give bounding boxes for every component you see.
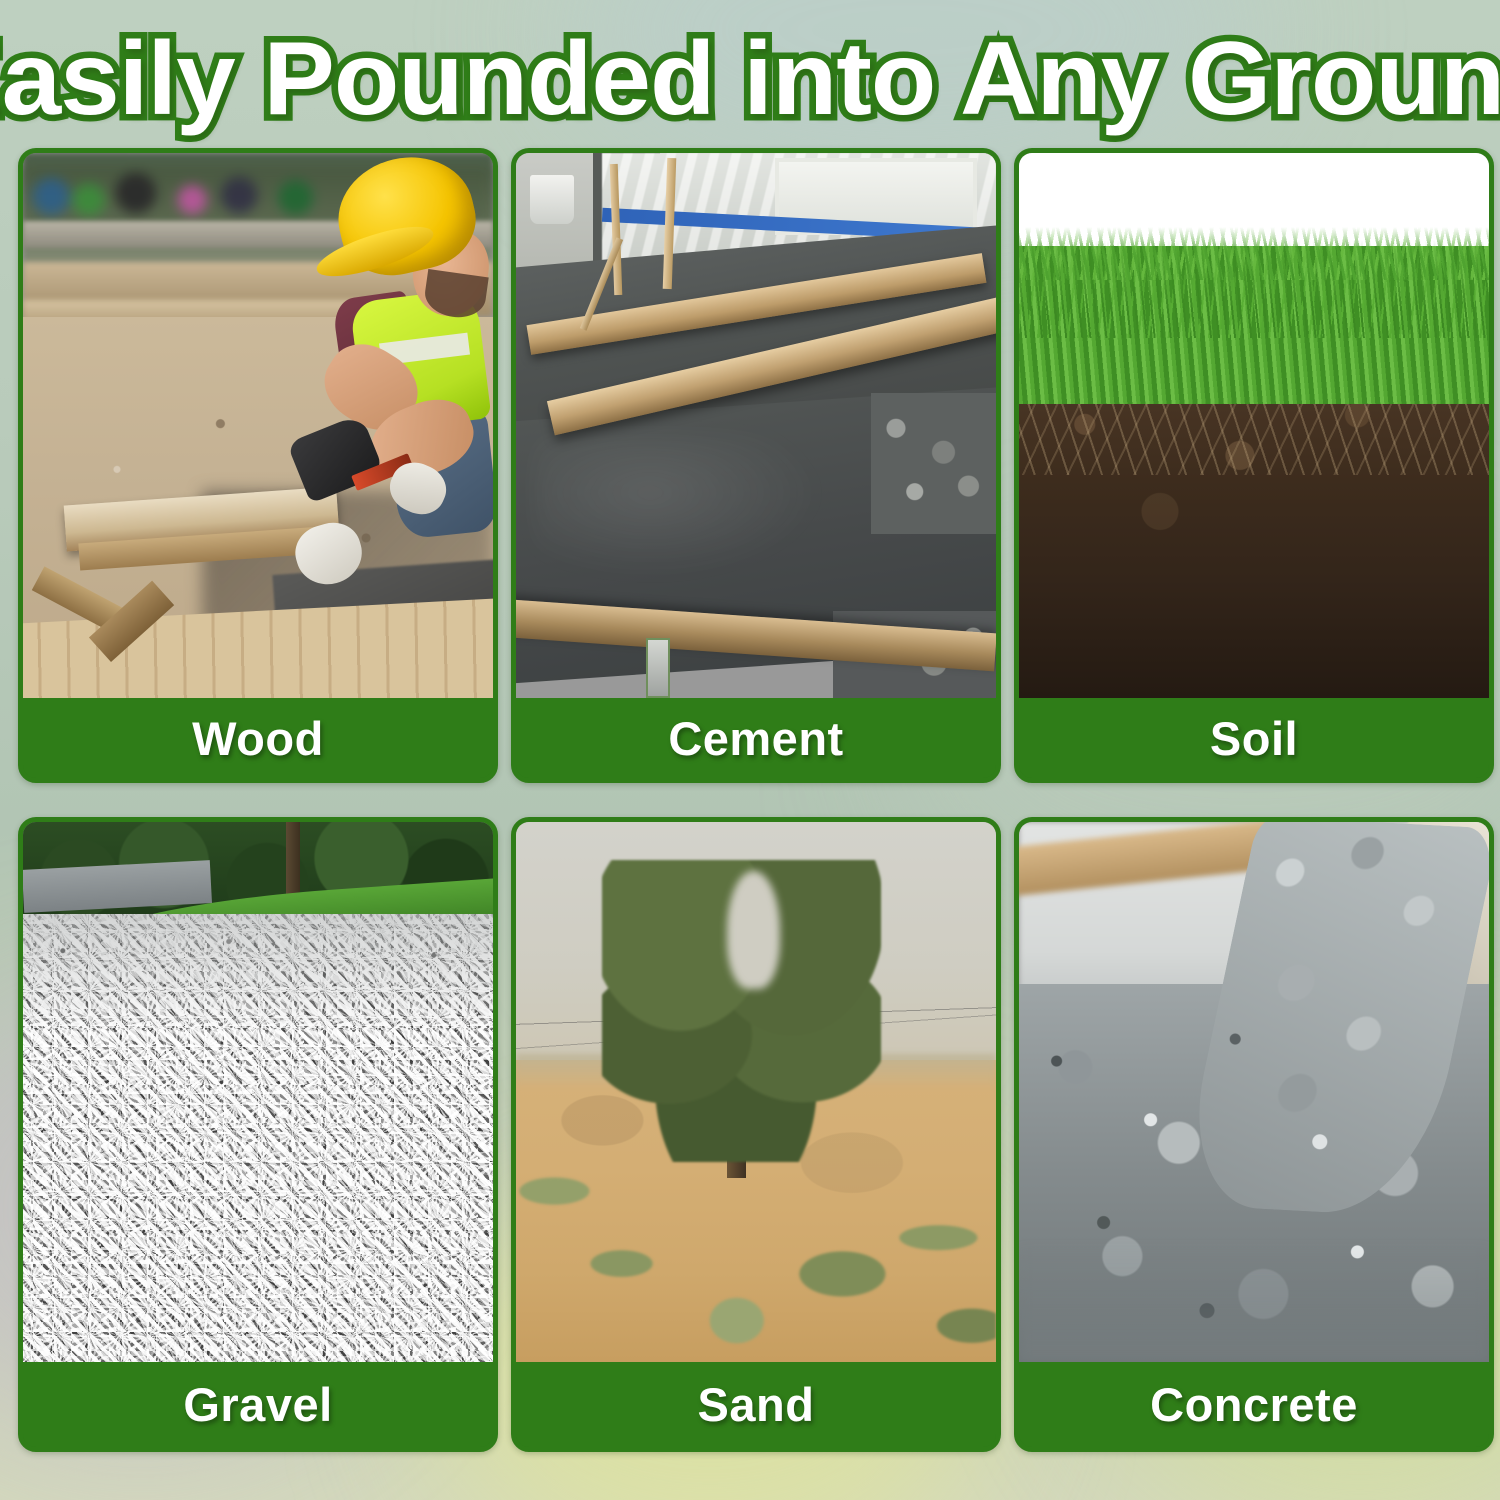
ground-card-concrete[interactable]: Concrete — [1014, 817, 1494, 1452]
label-text-cement: Cement — [668, 711, 843, 766]
photo-concrete — [1019, 822, 1489, 1362]
concrete-scene — [1019, 822, 1489, 1362]
cement-surface-sheen — [535, 436, 823, 578]
label-bar-soil: Soil — [1019, 698, 1489, 778]
photo-sand — [516, 822, 996, 1362]
label-bar-cement: Cement — [516, 698, 996, 778]
sand-canopy-notch — [727, 871, 780, 990]
soil-grass-blades — [1019, 240, 1489, 338]
cement-bucket — [530, 175, 573, 224]
label-text-wood: Wood — [192, 711, 324, 766]
sand-scrub-bushes — [516, 1103, 996, 1362]
ground-type-grid: Wood — [18, 148, 1484, 1452]
wood-scene — [23, 153, 493, 698]
concrete-foreground-blur — [1019, 1243, 1489, 1362]
cement-metal-marker — [646, 638, 670, 698]
soil-scene — [1019, 153, 1489, 698]
gravel-scene — [23, 822, 493, 1362]
ground-card-soil[interactable]: Soil — [1014, 148, 1494, 783]
label-text-soil: Soil — [1210, 711, 1298, 766]
cement-gravel-right — [871, 393, 996, 535]
ground-card-sand[interactable]: Sand — [511, 817, 1001, 1452]
photo-gravel — [23, 822, 493, 1362]
gravel-distance-fade — [23, 914, 493, 1033]
label-text-gravel: Gravel — [183, 1377, 332, 1432]
ground-card-wood[interactable]: Wood — [18, 148, 498, 783]
label-bar-wood: Wood — [23, 698, 493, 778]
ground-card-gravel[interactable]: Gravel — [18, 817, 498, 1452]
photo-wood — [23, 153, 493, 698]
sand-scene — [516, 822, 996, 1362]
page-title: Easily Pounded into Any Ground — [0, 27, 1500, 131]
label-bar-gravel: Gravel — [23, 1362, 493, 1447]
label-bar-concrete: Concrete — [1019, 1362, 1489, 1447]
ground-card-cement[interactable]: Cement — [511, 148, 1001, 783]
label-bar-sand: Sand — [516, 1362, 996, 1447]
headline-banner: Easily Pounded into Any Ground — [0, 24, 1500, 134]
label-text-sand: Sand — [698, 1377, 815, 1432]
cement-scene — [516, 153, 996, 698]
label-text-concrete: Concrete — [1150, 1377, 1358, 1432]
photo-cement — [516, 153, 996, 698]
photo-soil — [1019, 153, 1489, 698]
